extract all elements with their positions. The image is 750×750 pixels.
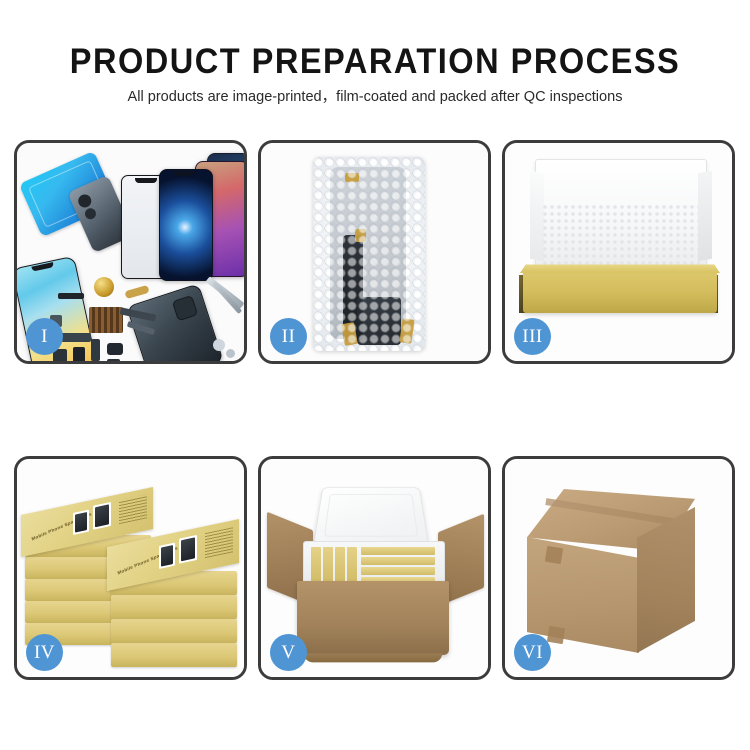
lid-product-image — [95, 504, 109, 527]
lid-text-lines — [119, 494, 147, 524]
process-step-grid: I II — [14, 140, 736, 680]
lid-product-image — [161, 545, 173, 567]
process-step-panel-4: Mobile Phone Spare Parts Mobile Phone Sp… — [14, 456, 247, 680]
stacked-box — [111, 643, 237, 667]
lid-text-lines — [205, 527, 233, 558]
dark-flex-part-icon — [357, 297, 401, 345]
yellow-box-base-icon — [523, 271, 717, 313]
chip-grid-part-icon — [89, 307, 123, 333]
packed-yellow-box — [361, 567, 435, 575]
screw-icon — [213, 339, 225, 351]
spare-part-icon — [124, 285, 149, 299]
spare-part-icon — [61, 333, 91, 342]
phone-blue-icon — [159, 169, 213, 281]
step-badge-2: II — [270, 318, 307, 355]
step-badge-4: IV — [26, 634, 63, 671]
carton-body-icon — [297, 581, 449, 655]
packed-yellow-box — [361, 557, 435, 565]
process-step-panel-3: III — [502, 140, 735, 364]
process-step-panel-2: II — [258, 140, 491, 364]
step-badge-5: V — [270, 634, 307, 671]
foam-lid-icon — [535, 159, 707, 279]
step-badge-3: III — [514, 318, 551, 355]
carton-tape-patch — [547, 626, 565, 644]
product-preparation-process-page: PRODUCT PREPARATION PROCESS All products… — [0, 0, 750, 750]
foam-lid-open-icon — [313, 487, 430, 546]
screw-icon — [226, 349, 235, 358]
gold-connector-icon — [355, 229, 366, 242]
bubble-wrap-bag-icon — [313, 157, 425, 351]
page-subtitle: All products are image-printed，film-coat… — [11, 89, 739, 104]
process-step-panel-5: V — [258, 456, 491, 680]
page-title: PRODUCT PREPARATION PROCESS — [26, 44, 724, 79]
lid-product-image — [181, 537, 195, 561]
step-badge-1: I — [26, 318, 63, 355]
process-step-panel-1: I — [14, 140, 247, 364]
spare-part-icon — [107, 343, 123, 355]
stacked-box — [111, 595, 237, 619]
packed-yellow-box — [361, 547, 435, 555]
step-badge-6: VI — [514, 634, 551, 671]
carton-front-face — [527, 537, 639, 653]
lid-product-image — [75, 512, 87, 533]
spare-part-icon — [91, 339, 100, 361]
spare-part-icon — [73, 347, 85, 361]
process-step-panel-6: VI — [502, 456, 735, 680]
stacked-box — [111, 619, 237, 643]
spare-part-icon — [58, 293, 84, 299]
gold-coil-part-icon — [94, 277, 114, 297]
carton-tape-patch — [545, 546, 563, 564]
spare-part-icon — [107, 359, 120, 361]
gold-connector-icon — [345, 173, 359, 182]
